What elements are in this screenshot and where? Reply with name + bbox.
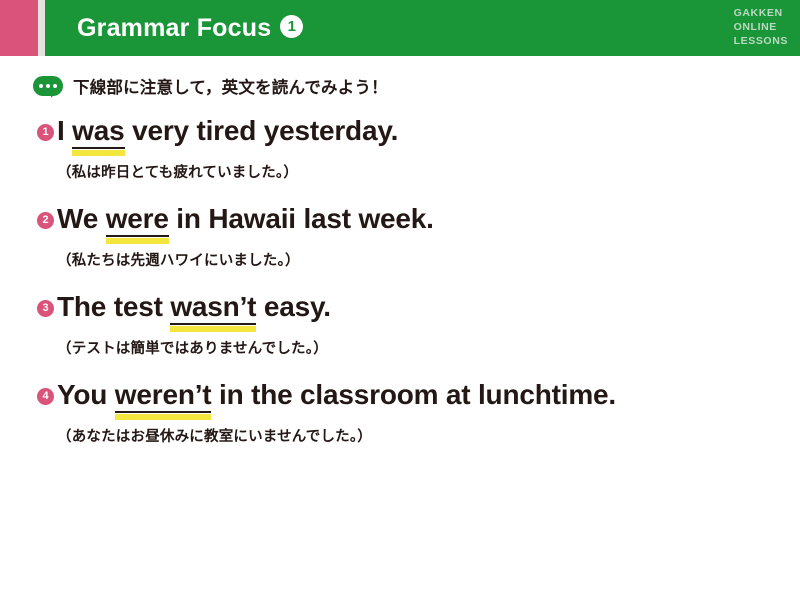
example-translation: （私は昨日とても疲れていました。） [57, 161, 800, 182]
example-translation: （私たちは先週ハワイにいました。） [57, 249, 800, 270]
example-number-badge: 4 [37, 388, 54, 405]
brand-line-3: LESSONS [734, 34, 788, 48]
page-title-number-badge: 1 [280, 15, 303, 38]
brand-line-1: GAKKEN [734, 6, 788, 20]
sentence-row: 4 You weren’t in the classroom at luncht… [37, 376, 800, 414]
example-translation: （あなたはお昼休みに教室にいませんでした。） [57, 425, 800, 446]
example-number-badge: 1 [37, 124, 54, 141]
header-green-bar: Grammar Focus1 GAKKEN ONLINE LESSONS [45, 0, 800, 56]
speech-bubble-dots [33, 76, 63, 96]
page-title: Grammar Focus1 [77, 14, 303, 43]
sentence-before: We [57, 203, 106, 234]
sentence-before: The test [57, 291, 170, 322]
sentence-highlight: wasn’t [170, 291, 256, 325]
instruction-text: 下線部に注意して，英文を読んでみよう！ [73, 74, 388, 98]
dot-1 [39, 84, 43, 88]
example-translation: （テストは簡単ではありませんでした。） [57, 337, 800, 358]
sentence-highlight: was [72, 115, 124, 149]
brand-line-2: ONLINE [734, 20, 788, 34]
speech-bubble-icon [33, 76, 63, 97]
example-number-badge: 2 [37, 212, 54, 229]
sentence-before: I [57, 115, 72, 146]
page-header: Grammar Focus1 GAKKEN ONLINE LESSONS [0, 0, 800, 56]
example-sentence: The test wasn’t easy. [57, 288, 331, 326]
sentence-after: very tired yesterday. [125, 115, 399, 146]
header-divider [38, 0, 45, 56]
sentence-row: 1 I was very tired yesterday. [37, 112, 800, 150]
sentence-after: easy. [256, 291, 331, 322]
sentence-before: You [57, 379, 115, 410]
example-item: 3 The test wasn’t easy. （テストは簡単ではありませんでし… [0, 288, 800, 358]
instruction-row: 下線部に注意して，英文を読んでみよう！ [33, 74, 388, 98]
dot-3 [53, 84, 57, 88]
example-item: 2 We were in Hawaii last week. （私たちは先週ハワ… [0, 200, 800, 270]
example-sentence: We were in Hawaii last week. [57, 200, 434, 238]
sentence-highlight: weren’t [115, 379, 212, 413]
sentence-row: 2 We were in Hawaii last week. [37, 200, 800, 238]
page-title-text: Grammar Focus [77, 14, 271, 42]
sentence-row: 3 The test wasn’t easy. [37, 288, 800, 326]
examples-list: 1 I was very tired yesterday. （私は昨日とても疲れ… [0, 112, 800, 446]
sentence-highlight: were [106, 203, 169, 237]
example-sentence: I was very tired yesterday. [57, 112, 398, 150]
example-number-badge: 3 [37, 300, 54, 317]
dot-2 [46, 84, 50, 88]
sentence-after: in Hawaii last week. [169, 203, 434, 234]
example-item: 1 I was very tired yesterday. （私は昨日とても疲れ… [0, 112, 800, 182]
sentence-after: in the classroom at lunchtime. [211, 379, 616, 410]
example-sentence: You weren’t in the classroom at lunchtim… [57, 376, 616, 414]
header-accent-block [0, 0, 38, 56]
brand-logo: GAKKEN ONLINE LESSONS [734, 6, 788, 48]
example-item: 4 You weren’t in the classroom at luncht… [0, 376, 800, 446]
